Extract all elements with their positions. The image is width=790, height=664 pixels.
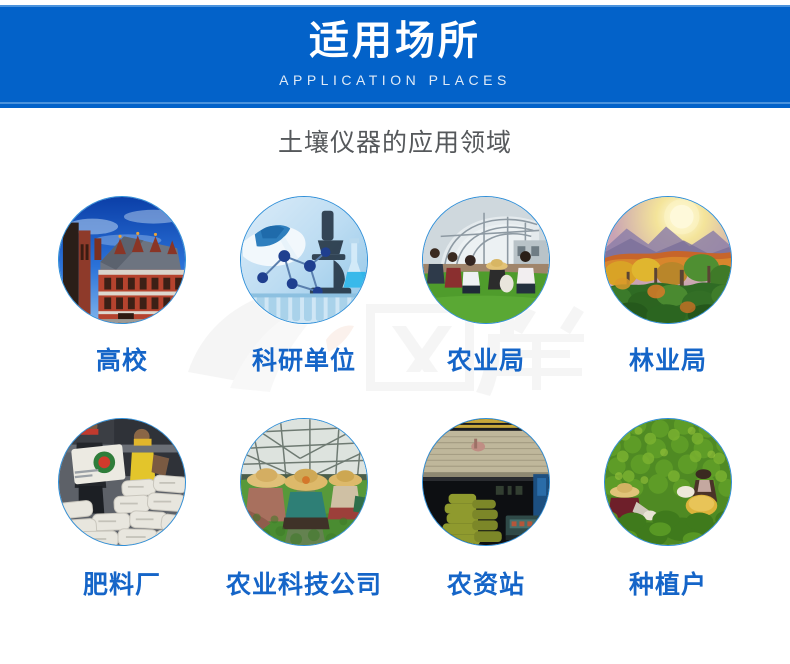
grid-item-label: 林业局: [629, 346, 707, 376]
agricultural-supply-store-photo: [422, 418, 550, 546]
grid-item-fertilizer-plant[interactable]: 肥料厂: [31, 418, 213, 640]
grid-item-grower[interactable]: 种植户: [577, 418, 759, 640]
grid-item-label: 农资站: [447, 570, 525, 600]
grid-item-label: 肥料厂: [83, 570, 161, 600]
laboratory-research-photo: [240, 196, 368, 324]
grid-item-agri-supply-station[interactable]: 农资站: [395, 418, 577, 640]
greenhouse-field-inspection-photo: [422, 196, 550, 324]
section-subtitle: 土壤仪器的应用领域: [0, 126, 790, 160]
application-grid: 高校: [0, 196, 790, 640]
grid-item-agritech-company[interactable]: 农业科技公司: [213, 418, 395, 640]
grid-item-label: 高校: [96, 346, 148, 376]
grid-row: 高校: [0, 196, 790, 418]
grid-item-forestry-bureau[interactable]: 林业局: [577, 196, 759, 418]
greenhouse-seedling-workers-photo: [240, 418, 368, 546]
grid-item-university[interactable]: 高校: [31, 196, 213, 418]
grid-item-label: 种植户: [629, 570, 707, 600]
grid-row: 肥料厂: [0, 418, 790, 640]
banner-bottom-rule: [0, 102, 790, 104]
header-banner: 适用场所 APPLICATION PLACES: [0, 5, 790, 108]
banner-top-rule: [0, 5, 790, 7]
application-places-page: 适用场所 APPLICATION PLACES 土壤仪器的应用领域: [0, 0, 790, 664]
autumn-forest-sunrise-photo: [604, 196, 732, 324]
vegetable-field-farmers-photo: [604, 418, 732, 546]
grid-item-label: 农业局: [447, 346, 525, 376]
university-building-photo: [58, 196, 186, 324]
banner-subtitle: APPLICATION PLACES: [0, 71, 790, 89]
fertilizer-sacks-workers-photo: [58, 418, 186, 546]
banner-title: 适用场所: [0, 17, 790, 65]
grid-item-research-institute[interactable]: 科研单位: [213, 196, 395, 418]
grid-item-label: 科研单位: [252, 346, 356, 376]
grid-item-label: 农业科技公司: [226, 570, 382, 600]
grid-item-agriculture-bureau[interactable]: 农业局: [395, 196, 577, 418]
